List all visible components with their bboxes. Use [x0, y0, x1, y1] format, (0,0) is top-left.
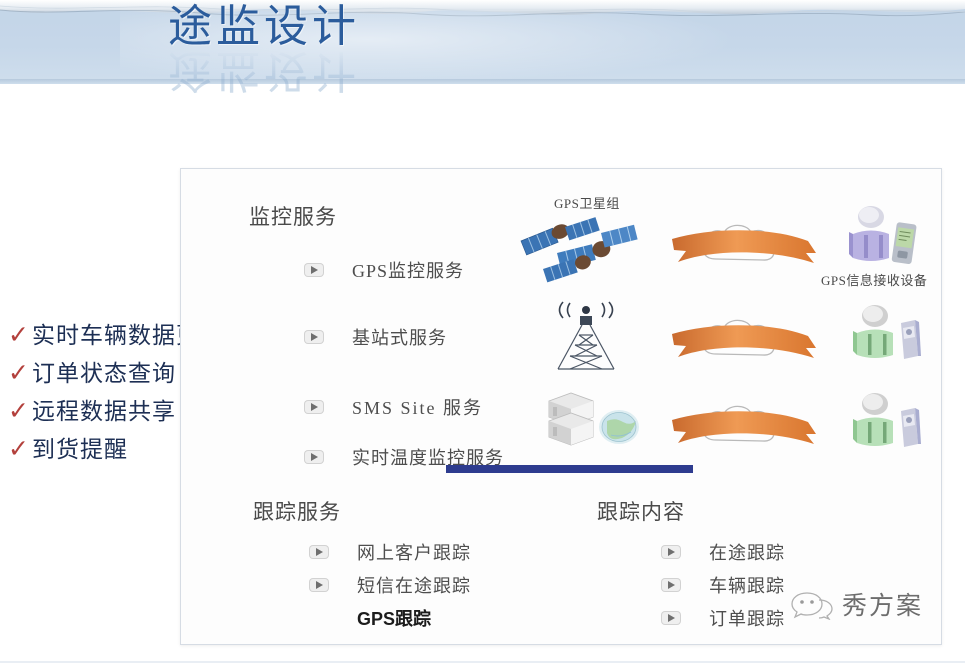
list-item-transit-tracking: 在途跟踪 [661, 539, 785, 565]
tracking-content-heading: 跟踪内容 [597, 496, 685, 526]
checklist-label: 远程数据共享 [32, 392, 176, 426]
cloud-arrow-gps [668, 217, 820, 279]
section-divider [446, 465, 693, 473]
gps-receiver-label: GPS信息接收设备 [821, 270, 927, 289]
satellite-group-label: GPS卫星组 [554, 193, 620, 212]
play-arrow-icon [309, 544, 331, 560]
play-arrow-icon [661, 610, 683, 626]
service-label-bold: GPS跟踪 [357, 605, 431, 631]
check-icon: ✓ [8, 360, 32, 385]
check-icon: ✓ [8, 436, 32, 461]
content-label: 车辆跟踪 [709, 572, 785, 598]
wechat-bubble-icon [789, 588, 833, 620]
list-item-gps-monitoring: GPS监控服务 [304, 257, 464, 283]
service-label: 基站式服务 [352, 324, 447, 350]
content-label: 在途跟踪 [709, 539, 785, 565]
service-label: SMS Site 服务 [352, 394, 483, 420]
cell-tower-icon [546, 301, 628, 373]
checklist-label: 订单状态查询 [32, 354, 176, 388]
gps-satellite-icon [517, 217, 652, 287]
play-arrow-icon [661, 577, 683, 593]
checklist-label: 到货提醒 [32, 430, 128, 464]
play-arrow-icon [661, 544, 683, 560]
list-item-sms-site: SMS Site 服务 [304, 394, 483, 420]
list-item-base-station: 基站式服务 [304, 324, 447, 350]
service-label: 网上客户跟踪 [357, 539, 471, 565]
play-arrow-icon [304, 262, 326, 278]
play-arrow-icon [304, 329, 326, 345]
monitoring-heading: 监控服务 [249, 201, 337, 231]
check-icon: ✓ [8, 398, 32, 423]
mobile-user-icon [847, 303, 929, 365]
cloud-arrow-sms [668, 398, 820, 460]
slide: 途监设计 途监设计 ✓ 实时车辆数据更新 ✓ 订单状态查询 ✓ 远程数据共享 ✓… [0, 0, 965, 663]
page-title-reflection: 途监设计 [168, 47, 360, 93]
play-arrow-icon [309, 577, 331, 593]
list-item-gps-tracking: GPS跟踪 [357, 605, 431, 631]
play-arrow-icon [304, 399, 326, 415]
service-label: GPS监控服务 [352, 257, 464, 283]
diagram-panel: 监控服务 GPS监控服务 基站式服务 [180, 168, 942, 645]
gps-receiver-person-icon [845, 204, 931, 270]
tracking-service-heading: 跟踪服务 [253, 496, 341, 526]
cloud-arrow-base-station [668, 312, 820, 374]
content-label: 订单跟踪 [709, 605, 785, 631]
list-item-order-tracking: 订单跟踪 [661, 605, 785, 631]
banner-bottom-shadow [0, 79, 965, 84]
list-item-sms-transit-tracking: 短信在途跟踪 [309, 572, 471, 598]
list-item-online-customer-tracking: 网上客户跟踪 [309, 539, 471, 565]
server-globe-icon [541, 387, 641, 455]
watermark-label: 秀方案 [842, 586, 923, 622]
watermark: 秀方案 [789, 586, 923, 622]
wave-decoration [0, 0, 965, 22]
service-label: 短信在途跟踪 [357, 572, 471, 598]
title-banner [0, 0, 965, 84]
play-arrow-icon [304, 449, 326, 465]
check-icon: ✓ [8, 322, 32, 347]
mobile-user-icon [847, 391, 929, 453]
page-title: 途监设计 [168, 4, 360, 50]
list-item-vehicle-tracking: 车辆跟踪 [661, 572, 785, 598]
